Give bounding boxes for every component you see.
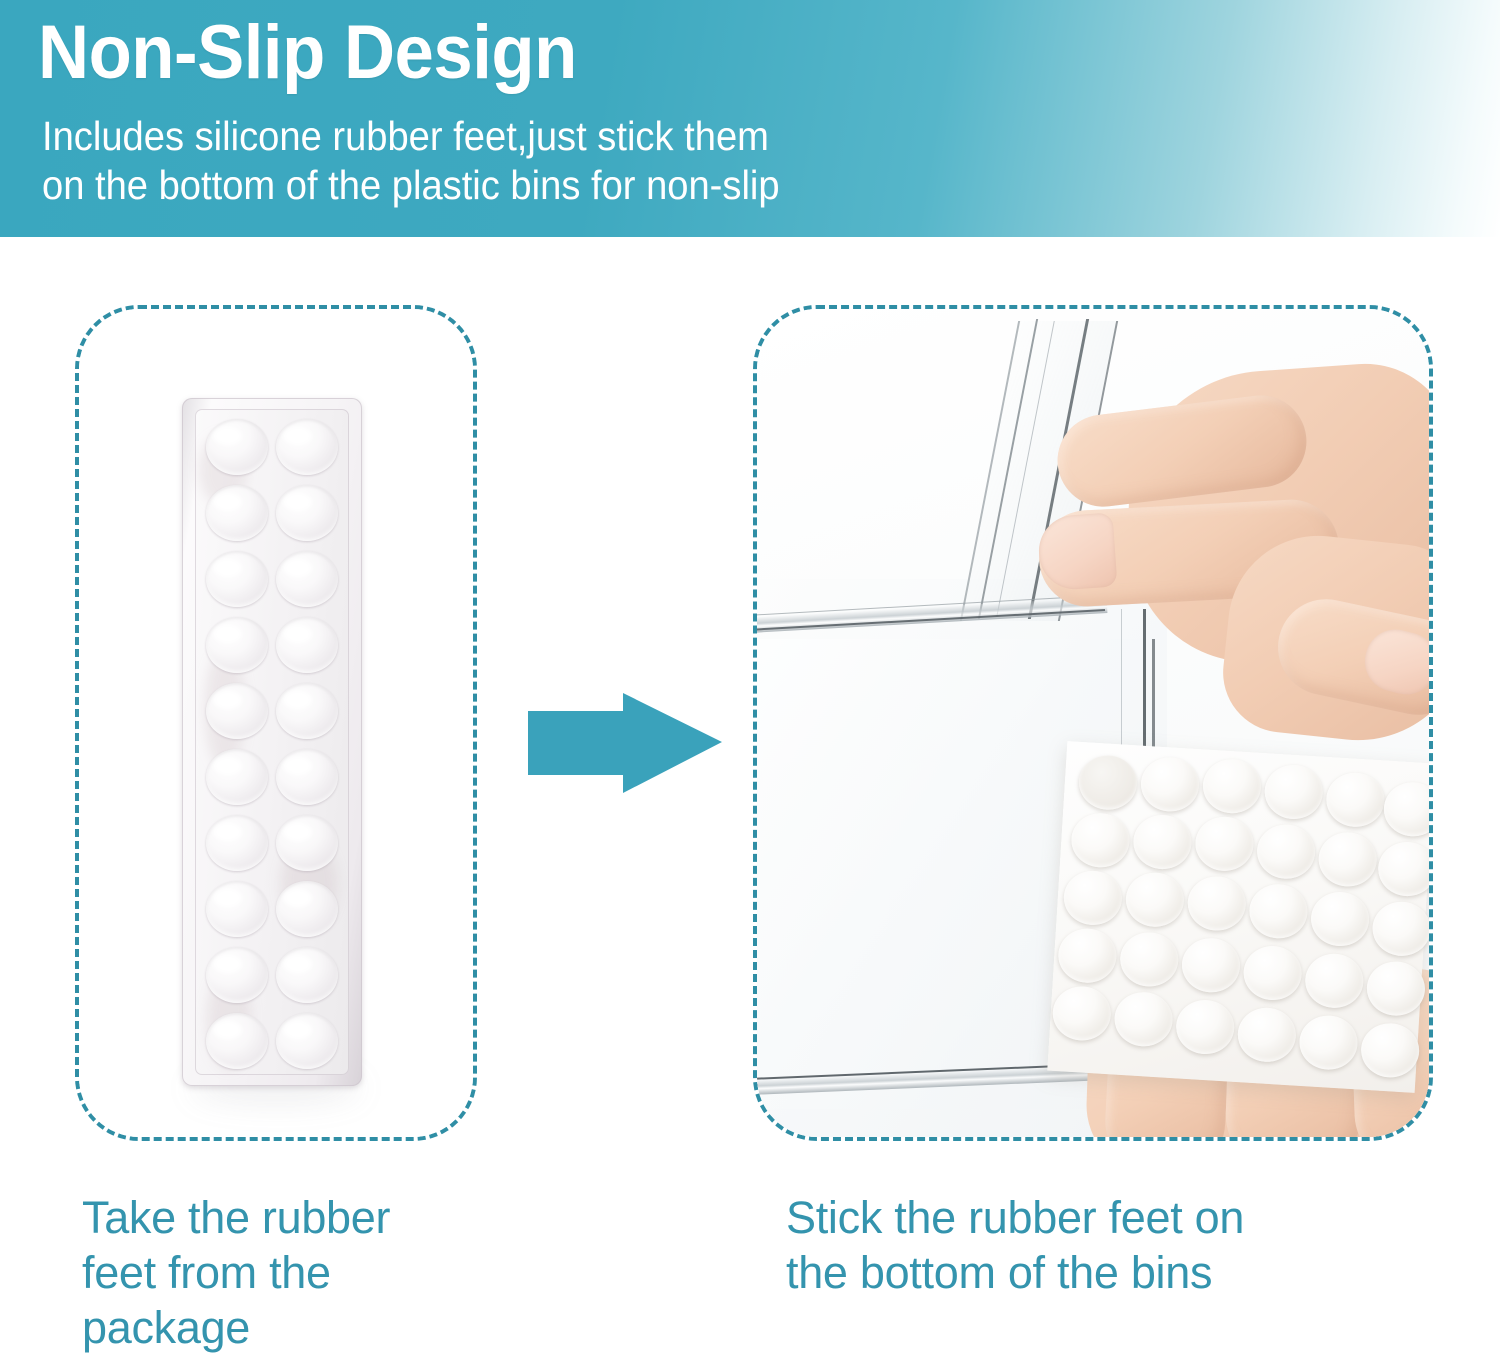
rubber-pad: [1248, 883, 1309, 940]
rubber-pad: [1119, 931, 1180, 988]
rubber-pad: [1242, 944, 1303, 1001]
step-one-caption-line-1: Take the rubber: [82, 1190, 390, 1245]
rubber-foot: [206, 485, 268, 541]
rubber-pad: [1070, 812, 1131, 869]
step-arrow-icon: [528, 693, 722, 793]
application-scene-background: [757, 309, 1429, 1137]
rubber-foot: [206, 419, 268, 475]
rubber-pad: [1317, 831, 1378, 888]
rubber-pad: [1201, 757, 1262, 814]
rubber-pad: [1051, 985, 1112, 1042]
step-one-caption-line-3: package: [82, 1300, 390, 1355]
rubber-foot: [206, 881, 268, 937]
rubber-foot: [276, 947, 338, 1003]
rubber-foot: [276, 683, 338, 739]
rubber-pad: [1255, 823, 1316, 880]
rubber-feet-package-photo: [79, 309, 473, 1137]
rubber-pad: [1186, 875, 1247, 932]
rubber-foot: [276, 881, 338, 937]
blister-package-inner-tray: [195, 409, 349, 1075]
package-photo-background: [79, 309, 473, 1137]
rubber-pad: [1175, 998, 1236, 1055]
rubber-foot: [276, 551, 338, 607]
rubber-foot: [206, 947, 268, 1003]
banner-subtitle: Includes silicone rubber feet,just stick…: [42, 112, 780, 210]
blister-package: [182, 398, 362, 1086]
rubber-pad: [1377, 840, 1429, 897]
rubber-feet-sheet: [1047, 741, 1429, 1093]
rubber-pad: [1062, 869, 1123, 926]
rubber-pad: [1057, 927, 1118, 984]
rubber-pad: [1371, 900, 1429, 957]
applying-rubber-feet-photo: [757, 309, 1429, 1137]
rubber-pad: [1382, 781, 1429, 838]
rubber-foot: [276, 1013, 338, 1069]
rubber-pad: [1304, 952, 1365, 1009]
page-title: Non-Slip Design: [38, 10, 577, 96]
rubber-pad: [1180, 937, 1241, 994]
rubber-foot: [276, 419, 338, 475]
rubber-pad: [1132, 813, 1193, 870]
rubber-foot: [206, 683, 268, 739]
rubber-pad: [1194, 815, 1255, 872]
rubber-pad: [1124, 871, 1185, 928]
rubber-pad: [1263, 763, 1324, 820]
rubber-pad: [1365, 960, 1426, 1017]
rubber-foot: [206, 551, 268, 607]
rubber-pad: [1325, 771, 1386, 828]
rubber-foot: [276, 749, 338, 805]
rubber-pad: [1298, 1014, 1359, 1071]
rubber-foot: [206, 815, 268, 871]
rubber-foot: [276, 617, 338, 673]
rubber-pad: [1236, 1006, 1297, 1063]
step-two-caption-line-1: Stick the rubber feet on: [786, 1190, 1244, 1245]
rubber-pad: [1360, 1022, 1421, 1079]
step-two-caption-line-2: the bottom of the bins: [786, 1245, 1244, 1300]
rubber-pad: [1309, 890, 1370, 947]
rubber-foot: [276, 815, 338, 871]
rubber-pad: [1139, 756, 1200, 813]
rubber-foot: [206, 617, 268, 673]
step-two-panel: [753, 305, 1433, 1141]
rubber-foot: [276, 485, 338, 541]
rubber-pad: [1113, 991, 1174, 1048]
step-one-panel: [75, 305, 477, 1141]
step-two-caption: Stick the rubber feet on the bottom of t…: [786, 1190, 1244, 1300]
step-one-caption-line-2: feet from the: [82, 1245, 390, 1300]
rubber-foot: [206, 749, 268, 805]
banner-subtitle-line-2: on the bottom of the plastic bins for no…: [42, 161, 780, 210]
rubber-pad: [1077, 754, 1138, 811]
header-banner: Non-Slip Design Includes silicone rubber…: [0, 0, 1500, 237]
rubber-foot: [206, 1013, 268, 1069]
step-one-caption: Take the rubber feet from the package: [82, 1190, 390, 1355]
banner-subtitle-line-1: Includes silicone rubber feet,just stick…: [42, 112, 780, 161]
